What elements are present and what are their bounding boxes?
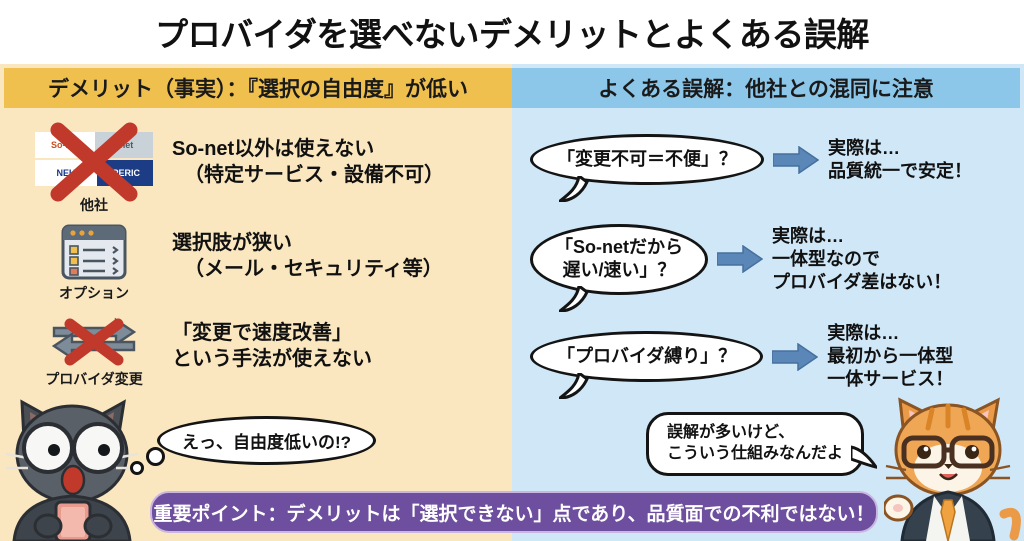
thought-dot-small: [130, 461, 144, 475]
arrow-right-icon-3: [772, 343, 818, 371]
answer-2-line2: 一体型なので: [772, 248, 951, 271]
infographic-root: プロバイダを選べないデメリットとよくある誤解 デメリット（事実）：『選択の自由度…: [0, 0, 1024, 541]
speech-tail-icon: [851, 445, 877, 469]
other-providers-logos-icon: So-net enet NEU IPERIC: [35, 132, 153, 192]
demerit-2-line1: 選択肢が狭い: [172, 232, 292, 254]
demerit-1-line1: So-net以外は使えない: [172, 138, 374, 160]
demerit-3-line1: 「変更で速度改善」: [172, 322, 352, 344]
left-column-header: デメリット（事実）：『選択の自由度』が低い: [4, 68, 512, 108]
provider-change-arrows-icon: [48, 314, 140, 366]
red-cross-icon: [46, 122, 142, 202]
arrow-right-icon-2: [717, 245, 763, 273]
misconception-2-line2: 遅い/速い」？: [555, 259, 683, 282]
answer-2-line3: プロバイダ差はない！: [772, 271, 951, 294]
options-icon-group: オプション: [30, 224, 158, 303]
icon-caption-provider-change: プロバイダ変更: [45, 369, 142, 389]
key-point-banner: 重要ポイント：デメリットは「選択できない」点であり、品質面での不利ではない！: [150, 491, 878, 533]
icon-caption-options: オプション: [59, 283, 129, 303]
answer-2-line1: 実際は…: [772, 225, 951, 248]
bubble-tail-icon: [559, 176, 589, 202]
right-column-header: よくある誤解：他社との混同に注意: [512, 68, 1020, 108]
demerit-text-3: 「変更で速度改善」 という手法が使えない: [172, 320, 372, 373]
answer-3-line2: 最初から一体型: [827, 345, 953, 368]
key-point-text: 重要ポイント：デメリットは「選択できない」点であり、品質面での不利ではない！: [153, 499, 874, 526]
demerit-row-1: So-net enet NEU IPERIC 他社 So-net以外は使えない …: [30, 132, 444, 215]
misconception-answer-1: 実際は… 品質統一で安定！: [828, 137, 972, 183]
left-cat-thought-bubble: えっ、自由度低いの!?: [157, 416, 376, 465]
right-cat-speech-bubble: 誤解が多いけど、 こういう仕組みなんだよ: [646, 412, 864, 476]
bubble-tail-icon: [559, 373, 589, 399]
misconception-bubble-3: 「プロバイダ縛り」？: [530, 331, 763, 382]
answer-1-line1: 実際は…: [828, 137, 972, 160]
thought-dot-large: [146, 447, 165, 466]
answer-3-line1: 実際は…: [827, 322, 953, 345]
demerit-row-2: オプション 選択肢が狭い （メール・セキュリティ等）: [30, 224, 443, 303]
misconception-row-3: 「プロバイダ縛り」？ 実際は… 最初から一体型 一体サービス！: [530, 322, 953, 391]
orange-tabby-cat-in-suit: [884, 392, 1024, 541]
other-providers-icon-group: So-net enet NEU IPERIC 他社: [30, 132, 158, 215]
misconception-answer-3: 実際は… 最初から一体型 一体サービス！: [827, 322, 953, 391]
misconception-1-line1: 「変更不可＝不便」？: [557, 149, 737, 169]
page-title: プロバイダを選べないデメリットとよくある誤解: [0, 4, 1024, 60]
demerit-row-3: プロバイダ変更 「変更で速度改善」 という手法が使えない: [30, 314, 372, 389]
provider-change-icon-group: プロバイダ変更: [30, 314, 158, 389]
demerit-text-2: 選択肢が狭い （メール・セキュリティ等）: [172, 230, 443, 283]
bubble-tail-icon: [559, 286, 589, 312]
arrow-right-icon-1: [773, 146, 819, 174]
demerit-2-line2: （メール・セキュリティ等）: [172, 256, 443, 282]
misconception-3-line1: 「プロバイダ縛り」？: [557, 346, 736, 366]
demerit-3-line2: という手法が使えない: [172, 346, 372, 372]
demerit-text-1: So-net以外は使えない （特定サービス・設備不可）: [172, 136, 444, 189]
right-cat-speech-line2: こういう仕組みなんだよ: [667, 444, 843, 465]
surprised-gray-cat: [0, 392, 150, 541]
misconception-answer-2: 実際は… 一体型なので プロバイダ差はない！: [772, 225, 951, 294]
demerit-1-line2: （特定サービス・設備不可）: [172, 162, 444, 188]
options-window-icon: [61, 224, 127, 280]
answer-3-line3: 一体サービス！: [827, 368, 953, 391]
misconception-row-2: 「So-netだから 遅い/速い」？ 実際は… 一体型なので プロバイダ差はない…: [530, 224, 951, 295]
left-cat-thought-text: えっ、自由度低いの!?: [182, 433, 351, 452]
misconception-2-line1: 「So-netだから: [555, 236, 683, 259]
answer-1-line2: 品質統一で安定！: [828, 160, 972, 183]
misconception-row-1: 「変更不可＝不便」？ 実際は… 品質統一で安定！: [530, 134, 972, 185]
right-cat-speech-line1: 誤解が多いけど、: [667, 423, 843, 444]
misconception-bubble-2: 「So-netだから 遅い/速い」？: [530, 224, 708, 295]
misconception-bubble-1: 「変更不可＝不便」？: [530, 134, 764, 185]
